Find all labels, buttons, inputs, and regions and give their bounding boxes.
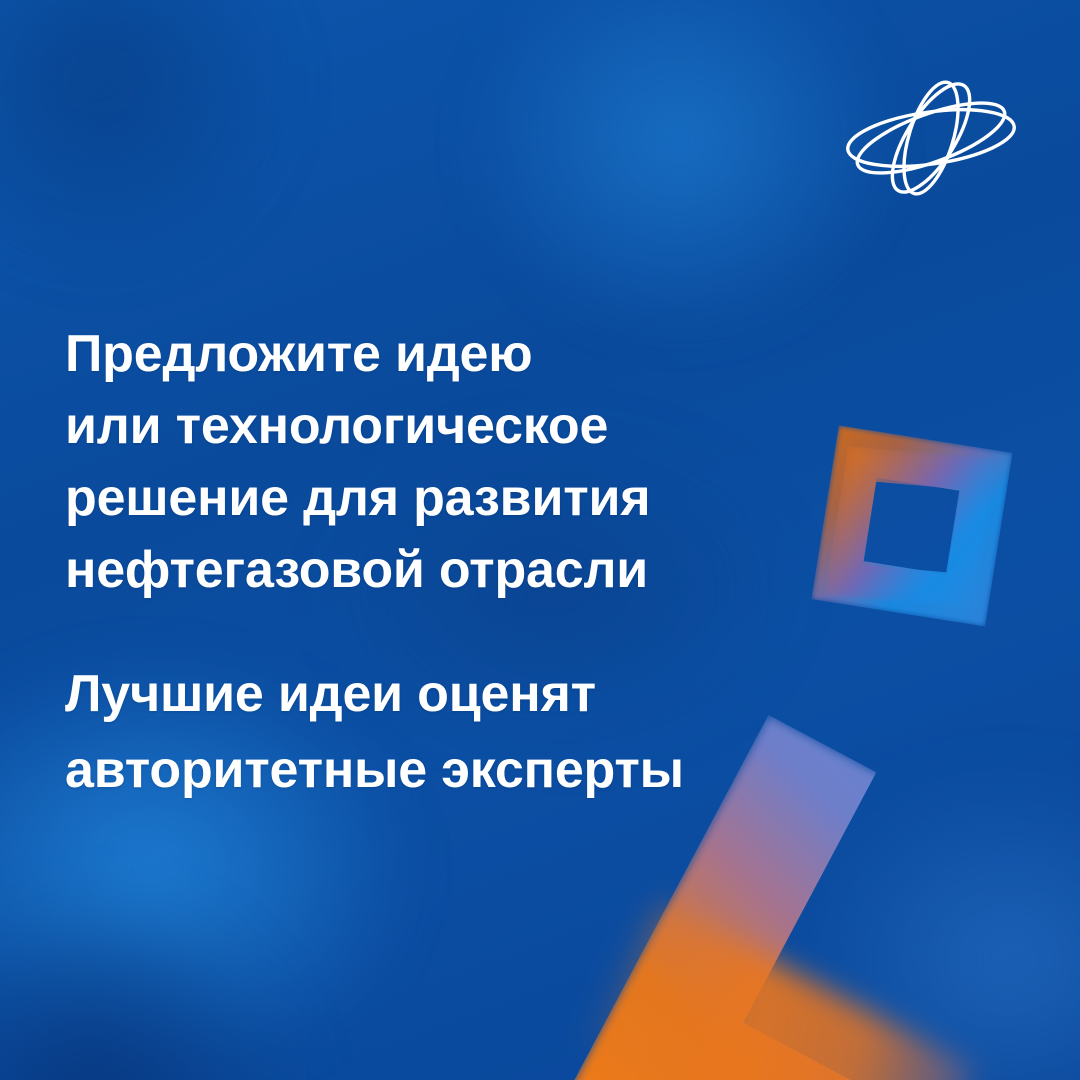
page-subtitle: Лучшие идеи оценят авторитетные эксперты (65, 656, 684, 808)
orbit-rings-icon (836, 72, 1026, 204)
page-title: Предложите идею или технологическое реше… (65, 318, 650, 606)
promo-card: Предложите идею или технологическое реше… (0, 0, 1080, 1080)
brand-logo (836, 72, 1026, 204)
